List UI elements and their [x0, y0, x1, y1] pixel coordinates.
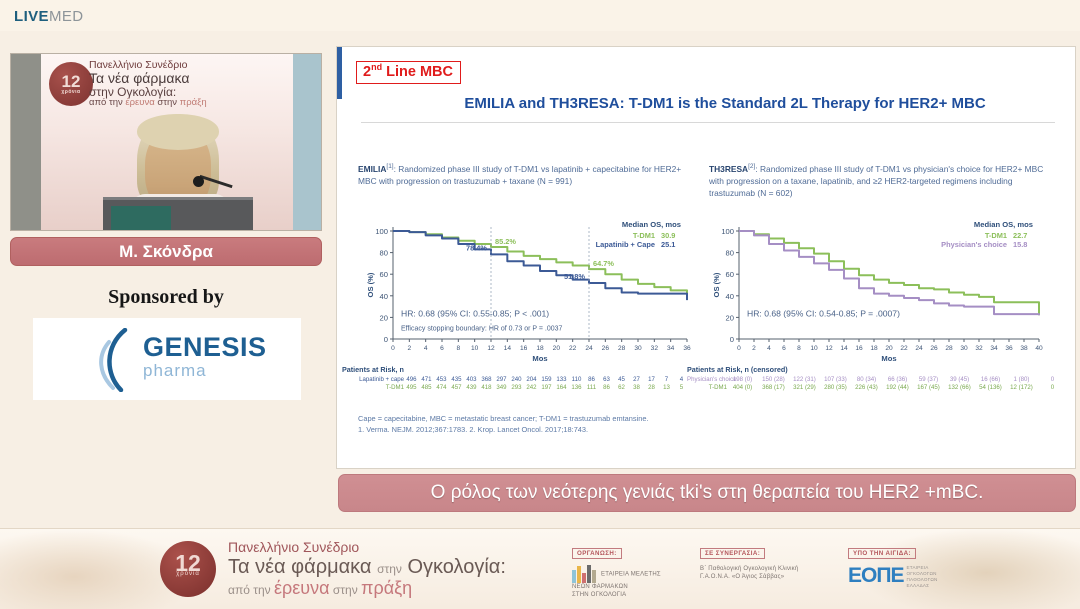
risk-row-value: 1 (80) [1006, 376, 1037, 383]
svg-text:8: 8 [797, 345, 801, 352]
risk-row-value: 204 [524, 376, 539, 383]
title-divider [361, 122, 1055, 123]
svg-text:8: 8 [456, 345, 460, 352]
livemed-logo: LIVEMED [14, 8, 84, 25]
top-header-bar: LIVEMED [0, 0, 1080, 31]
svg-text:14: 14 [840, 345, 848, 352]
risk-row-label: Lapatinib + cape [342, 376, 404, 383]
bottom-line3: από την έρευνα στην πράξη [228, 578, 506, 598]
risk-table-emilia: Patients at Risk, nLapatinib + cape49647… [342, 365, 692, 391]
chart-emilia-os: 0204060801000246810121416182022242628303… [363, 215, 693, 355]
auspices-header: ΥΠΟ ΤΗΝ ΑΙΓΙΔΑ: [848, 548, 916, 559]
org-block-collaboration: ΣΕ ΣΥΝΕΡΓΑΣΙΑ: Β΄ Παθολογική Ογκολογική … [700, 542, 798, 581]
svg-text:22: 22 [569, 345, 577, 352]
svg-text:Mos: Mos [532, 354, 547, 363]
risk-row-value: 132 (66) [944, 384, 975, 391]
risk-row-value: 13 [659, 384, 674, 391]
risk-row-value: 110 [569, 376, 584, 383]
risk-table-row: Lapatinib + cape496471453435403368297240… [342, 376, 692, 383]
svg-text:32: 32 [975, 345, 983, 352]
risk-row-value: 198 (0) [727, 376, 758, 383]
risk-row-value: 164 [554, 384, 569, 391]
risk-row-value: 0 [1037, 384, 1068, 391]
svg-text:Lapatinib + Cape: Lapatinib + Cape [596, 240, 655, 249]
svg-text:34: 34 [990, 345, 998, 352]
th3resa-name: TH3RESA [709, 164, 748, 174]
risk-row-value: 62 [614, 384, 629, 391]
congress-seal-icon: 12 χρόνια [49, 62, 93, 106]
svg-text:22: 22 [900, 345, 908, 352]
sponsor-logo-genesis-pharma: GENESIS pharma [33, 318, 301, 400]
svg-text:28: 28 [945, 345, 953, 352]
svg-text:28: 28 [618, 345, 626, 352]
svg-text:85.2%: 85.2% [495, 237, 516, 246]
footnote-abbreviations: Cape = capecitabine, MBC = metastatic br… [358, 413, 1058, 424]
sponsored-by-label: Sponsored by [10, 286, 322, 309]
slide-footnotes: Cape = capecitabine, MBC = metastatic br… [358, 413, 1058, 435]
genesis-sub: pharma [143, 361, 267, 381]
risk-row-value: 439 [464, 384, 479, 391]
risk-table-row: T-DM149548547445743941834929324219716413… [342, 384, 692, 391]
svg-text:OS (%): OS (%) [712, 272, 721, 297]
collaboration-body: Β΄ Παθολογική Ογκολογική ΚλινικήΓ.Α.Ο.Ν.… [700, 565, 798, 581]
eope-logo: ΕΟΠΕ [848, 564, 904, 587]
svg-text:36: 36 [683, 345, 691, 352]
risk-row-value: 0 [1037, 376, 1068, 383]
organizer-body-row: ΕΤΑΙΡΕΙΑ ΜΕΛΕΤΗΣΝΕΩΝ ΦΑΡΜΑΚΩΝΣΤΗΝ ΟΓΚΟΛΟ… [572, 565, 661, 599]
risk-row-value: 403 [464, 376, 479, 383]
svg-text:2: 2 [752, 345, 756, 352]
risk-row-value: 133 [554, 376, 569, 383]
svg-text:HR: 0.68 (95% CI: 0.55-0.85; P: HR: 0.68 (95% CI: 0.55-0.85; P < .001) [401, 308, 549, 318]
svg-text:T-DM1: T-DM1 [985, 231, 1007, 240]
svg-text:100: 100 [721, 227, 734, 236]
svg-text:36: 36 [1005, 345, 1013, 352]
svg-text:20: 20 [553, 345, 561, 352]
svg-text:80: 80 [380, 249, 388, 258]
svg-text:Physician's choice: Physician's choice [941, 240, 1007, 249]
speaker-name-badge: Μ. Σκόνδρα [10, 237, 322, 266]
bottom-line2: Τα νέα φάρμακα στην Ογκολογία: [228, 556, 506, 578]
svg-text:Mos: Mos [881, 354, 896, 363]
risk-row-value: 150 (28) [758, 376, 789, 383]
risk-row-value: 136 [569, 384, 584, 391]
risk-row-value: 17 [644, 376, 659, 383]
genesis-arc-icon [91, 328, 143, 392]
emilia-km-plot: 0204060801000246810121416182022242628303… [363, 215, 693, 365]
emena-bars-icon [572, 565, 597, 583]
risk-row-value: 159 [539, 376, 554, 383]
svg-text:25.1: 25.1 [661, 240, 675, 249]
risk-row-value: 86 [599, 384, 614, 391]
risk-row-value: 45 [614, 376, 629, 383]
svg-text:24: 24 [915, 345, 923, 352]
svg-text:51.8%: 51.8% [564, 272, 585, 281]
svg-text:12: 12 [487, 345, 495, 352]
th3resa-text: : Randomized phase III study of T-DM1 vs… [709, 164, 1043, 198]
laptop-screen [111, 206, 171, 230]
risk-table-row: Physician's choice198 (0)150 (28)122 (31… [687, 376, 1077, 383]
svg-text:20: 20 [380, 313, 388, 322]
risk-row-value: 495 [404, 384, 419, 391]
risk-row-value: 167 (45) [913, 384, 944, 391]
svg-text:20: 20 [726, 313, 734, 322]
slide-accent-bar [337, 47, 342, 99]
risk-row-value: 435 [449, 376, 464, 383]
video-left-wall [11, 54, 41, 230]
organizer-header: ΟΡΓΑΝΩΣΗ: [572, 548, 622, 559]
risk-row-value: 16 (66) [975, 376, 1006, 383]
emilia-ref: [1] [386, 163, 393, 170]
svg-text:38: 38 [1020, 345, 1028, 352]
svg-text:0: 0 [391, 345, 395, 352]
study-description-emilia: EMILIA[1]: Randomized phase III study of… [358, 162, 688, 187]
svg-text:40: 40 [1035, 345, 1043, 352]
risk-row-value: 63 [599, 376, 614, 383]
svg-text:0: 0 [730, 335, 734, 344]
risk-row-value: 349 [494, 384, 509, 391]
svg-text:2: 2 [407, 345, 411, 352]
svg-text:16: 16 [520, 345, 528, 352]
svg-text:20: 20 [885, 345, 893, 352]
risk-row-value: 66 (36) [882, 376, 913, 383]
svg-text:60: 60 [380, 270, 388, 279]
bottom-congress-seal-icon: 12 χρόνια [160, 541, 216, 597]
svg-text:40: 40 [726, 292, 734, 301]
svg-text:Median OS, mos: Median OS, mos [622, 220, 681, 229]
bottom-seal-number: 12 [160, 541, 216, 585]
risk-table-row: T-DM1404 (0)368 (17)321 (29)280 (35)226 … [687, 384, 1077, 391]
risk-row-value: 27 [629, 376, 644, 383]
risk-row-value: 485 [419, 384, 434, 391]
genesis-name: GENESIS [143, 332, 267, 363]
svg-text:64.7%: 64.7% [593, 259, 614, 268]
bottom-line1: Πανελλήνιο Συνέδριο [228, 540, 506, 556]
emilia-name: EMILIA [358, 164, 386, 174]
eope-logo-subtext: ΕΤΑΙΡΕΙΑΟΓΚΟΛΟΓΩΝΠΑΘΟΛΟΓΩΝΕΛΛΑΔΑΣ [907, 565, 938, 589]
svg-text:32: 32 [651, 345, 659, 352]
svg-text:26: 26 [930, 345, 938, 352]
svg-text:Efficacy stopping boundary: HR: Efficacy stopping boundary: HR of 0.73 o… [401, 325, 563, 332]
risk-row-value: 111 [584, 384, 599, 391]
backdrop-line2: Τα νέα φάρμακα [89, 71, 289, 86]
svg-text:HR: 0.68 (95% CI: 0.54-0.85; P: HR: 0.68 (95% CI: 0.54-0.85; P = .0007) [747, 308, 900, 318]
auspices-body: ΕΟΠΕΕΤΑΙΡΕΙΑΟΓΚΟΛΟΓΩΝΠΑΘΟΛΟΓΩΝΕΛΛΑΔΑΣ [848, 565, 938, 589]
risk-row-value: 54 (136) [975, 384, 1006, 391]
svg-text:78.4%: 78.4% [466, 243, 487, 252]
risk-row-value: 474 [434, 384, 449, 391]
risk-row-label: T-DM1 [342, 384, 404, 391]
risk-row-value: 226 (43) [851, 384, 882, 391]
risk-row-label: Physician's choice [687, 376, 727, 383]
risk-row-value: 7 [659, 376, 674, 383]
risk-row-label: T-DM1 [687, 384, 727, 391]
svg-text:0: 0 [384, 335, 388, 344]
risk-row-value: 418 [479, 384, 494, 391]
speaker-hair-front [137, 114, 219, 150]
svg-text:4: 4 [424, 345, 428, 352]
svg-text:18: 18 [870, 345, 878, 352]
risk-row-value: 197 [539, 384, 554, 391]
org-block-organizer: ΟΡΓΑΝΩΣΗ: ΕΤΑΙΡΕΙΑ ΜΕΛΕΤΗΣΝΕΩΝ ΦΑΡΜΑΚΩΝΣ… [572, 542, 661, 599]
risk-row-value: 39 (45) [944, 376, 975, 383]
bottom-banner-text: Πανελλήνιο Συνέδριο Τα νέα φάρμακα στην … [228, 540, 506, 598]
svg-text:30.9: 30.9 [661, 231, 675, 240]
svg-text:Median OS, mos: Median OS, mos [974, 220, 1033, 229]
risk-row-value: 107 (33) [820, 376, 851, 383]
svg-text:12: 12 [825, 345, 833, 352]
risk-row-value: 122 (31) [789, 376, 820, 383]
svg-text:30: 30 [960, 345, 968, 352]
risk-row-value: 280 (35) [820, 384, 851, 391]
svg-text:0: 0 [737, 345, 741, 352]
org-block-auspices: ΥΠΟ ΤΗΝ ΑΙΓΙΔΑ: ΕΟΠΕΕΤΑΙΡΕΙΑΟΓΚΟΛΟΓΩΝΠΑΘ… [848, 542, 938, 589]
svg-text:4: 4 [767, 345, 771, 352]
risk-row-value: 453 [434, 376, 449, 383]
risk-row-value: 368 (17) [758, 384, 789, 391]
svg-text:26: 26 [602, 345, 610, 352]
risk-row-value: 86 [584, 376, 599, 383]
risk-row-value: 321 (29) [789, 384, 820, 391]
slide-title: EMILIA and TH3RESA: T-DM1 is the Standar… [395, 95, 1055, 112]
svg-text:100: 100 [375, 227, 388, 236]
risk-row-value: 471 [419, 376, 434, 383]
risk-row-value: 192 (44) [882, 384, 913, 391]
risk-row-value: 404 (0) [727, 384, 758, 391]
genesis-wordmark: GENESIS pharma [143, 332, 267, 381]
svg-text:22.7: 22.7 [1013, 231, 1027, 240]
risk-row-value: 12 (172) [1006, 384, 1037, 391]
risk-row-value: 368 [479, 376, 494, 383]
svg-text:60: 60 [726, 270, 734, 279]
study-description-th3resa: TH3RESA[2]: Randomized phase III study o… [709, 162, 1059, 199]
risk-table-th3resa: Patients at Risk, n (censored)Physician'… [687, 365, 1077, 391]
svg-text:16: 16 [855, 345, 863, 352]
svg-text:18: 18 [536, 345, 544, 352]
svg-text:80: 80 [726, 249, 734, 258]
svg-text:30: 30 [634, 345, 642, 352]
session-caption-bar: Ο ρόλος των νεότερης γενιάς tki's στη θε… [338, 474, 1076, 512]
svg-text:40: 40 [380, 292, 388, 301]
risk-row-value: 240 [509, 376, 524, 383]
slide-section-tag: 2nd Line MBC [356, 61, 461, 84]
svg-text:10: 10 [810, 345, 818, 352]
th3resa-km-plot: 0204060801000246810121416182022242628303… [709, 215, 1045, 365]
logo-med-text: MED [49, 8, 84, 25]
svg-text:14: 14 [504, 345, 512, 352]
risk-row-value: 242 [524, 384, 539, 391]
emilia-text: : Randomized phase III study of T-DM1 vs… [358, 164, 681, 186]
video-stage-backdrop: 12 χρόνια Πανελλήνιο Συνέδριο Τα νέα φάρ… [41, 54, 293, 230]
bottom-congress-banner: 12 χρόνια Πανελλήνιο Συνέδριο Τα νέα φάρ… [0, 528, 1080, 609]
footnote-references: 1. Verma. NEJM. 2012;367:1783. 2. Krop. … [358, 424, 1058, 435]
risk-row-value: 28 [644, 384, 659, 391]
collaboration-name: Β΄ Παθολογική Ογκολογική ΚλινικήΓ.Α.Ο.Ν.… [700, 566, 798, 580]
video-right-wall [291, 54, 321, 230]
risk-row-value: 293 [509, 384, 524, 391]
svg-text:34: 34 [667, 345, 675, 352]
svg-text:24: 24 [585, 345, 593, 352]
bottom-seal-sub: χρόνια [160, 571, 216, 577]
risk-row-value: 496 [404, 376, 419, 383]
svg-text:T-DM1: T-DM1 [633, 231, 655, 240]
risk-table-title: Patients at Risk, n (censored) [687, 365, 1077, 374]
risk-row-value: 59 (37) [913, 376, 944, 383]
risk-row-value: 38 [629, 384, 644, 391]
backdrop-line4: από την έρευνα στην πράξη [89, 98, 289, 108]
svg-text:15.8: 15.8 [1013, 240, 1027, 249]
svg-text:6: 6 [782, 345, 786, 352]
microphone-icon [193, 176, 204, 187]
logo-live-text: LIVE [14, 8, 49, 25]
chart-th3resa-os: 0204060801000246810121416182022242628303… [709, 215, 1045, 355]
risk-table-title: Patients at Risk, n [342, 365, 692, 374]
backdrop-congress-banner: Πανελλήνιο Συνέδριο Τα νέα φάρμακα στην … [89, 60, 289, 108]
svg-text:10: 10 [471, 345, 479, 352]
collaboration-header: ΣΕ ΣΥΝΕΡΓΑΣΙΑ: [700, 548, 765, 559]
speaker-video-player[interactable]: 12 χρόνια Πανελλήνιο Συνέδριο Τα νέα φάρ… [10, 53, 322, 231]
risk-row-value: 457 [449, 384, 464, 391]
svg-text:OS (%): OS (%) [366, 272, 375, 297]
risk-row-value: 80 (34) [851, 376, 882, 383]
presentation-slide: 2nd Line MBC EMILIA and TH3RESA: T-DM1 i… [336, 46, 1076, 469]
svg-text:6: 6 [440, 345, 444, 352]
risk-row-value: 297 [494, 376, 509, 383]
